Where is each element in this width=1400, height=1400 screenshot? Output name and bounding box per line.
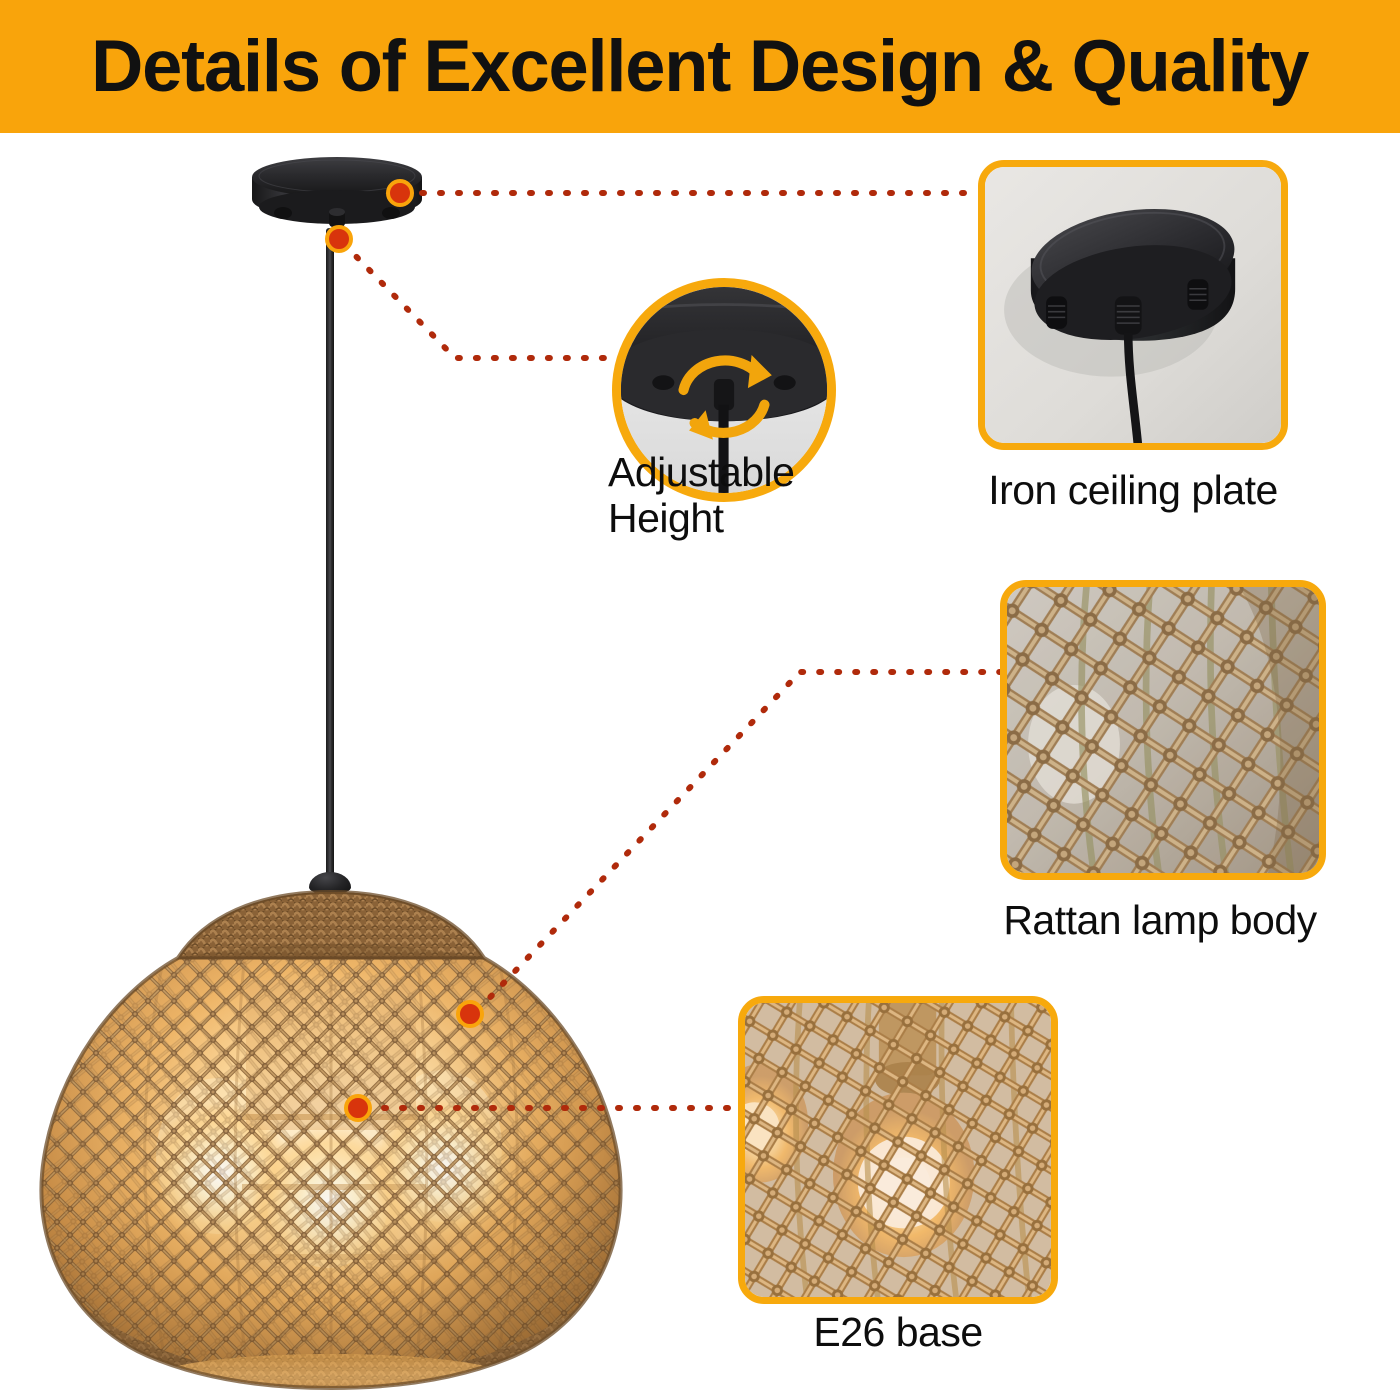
iron-ceiling-plate-photo bbox=[985, 167, 1281, 443]
callout-label-adjustable-height: Adjustable Height bbox=[608, 450, 908, 542]
callout-label-iron-ceiling-plate: Iron ceiling plate bbox=[968, 468, 1298, 514]
lamp-cord bbox=[326, 228, 334, 883]
marker-adjustable-height[interactable] bbox=[325, 225, 353, 253]
callout-label-rattan-lamp-body: Rattan lamp body bbox=[960, 898, 1360, 944]
marker-rattan-body[interactable] bbox=[456, 1000, 484, 1028]
header-banner: Details of Excellent Design & Quality bbox=[0, 0, 1400, 133]
callout-rattan-lamp-body[interactable] bbox=[1000, 580, 1326, 880]
marker-e26-base[interactable] bbox=[344, 1094, 372, 1122]
marker-ceiling-plate[interactable] bbox=[386, 179, 414, 207]
callout-iron-ceiling-plate[interactable] bbox=[978, 160, 1288, 450]
infographic-canvas: Details of Excellent Design & Quality bbox=[0, 0, 1400, 1400]
page-title: Details of Excellent Design & Quality bbox=[91, 30, 1308, 103]
callout-e26-base[interactable] bbox=[738, 996, 1058, 1304]
rattan-lamp-body-photo bbox=[1007, 587, 1319, 873]
lamp-shade bbox=[18, 884, 644, 1400]
callout-label-e26-base: E26 base bbox=[708, 1310, 1088, 1356]
e26-base-photo bbox=[745, 1003, 1051, 1297]
connector-adjustable-height bbox=[344, 244, 618, 358]
